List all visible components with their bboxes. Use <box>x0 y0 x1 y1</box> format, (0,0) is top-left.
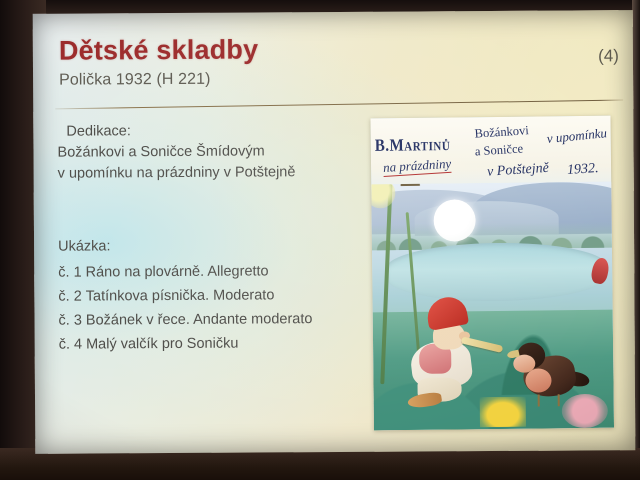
list-item: č. 1Ráno na plovárně. Allegretto <box>58 259 374 285</box>
gnome-figure <box>403 297 496 408</box>
list-item-number: č. 4 <box>59 337 82 353</box>
list-item: č. 2Tatínkova písnička. Moderato <box>58 283 374 309</box>
list-item-label: Malý valčík pro Soničku <box>86 336 238 353</box>
slide-subtitle: Polička 1932 (H 221) <box>59 68 613 89</box>
presentation-slide: Dětské skladby Polička 1932 (H 221) (4) … <box>33 10 636 454</box>
manuscript-place: v Potštejně <box>487 161 550 181</box>
manuscript-holidays: na prázdniny <box>383 156 452 177</box>
examples-label: Ukázka: <box>58 233 374 259</box>
manuscript-dedicatee-1: Božánkovi <box>474 123 529 141</box>
manuscript-inscription: B.Martinů Božánkovi a Soničce v upomínku… <box>370 116 611 191</box>
manuscript-in-memory: v upomínku <box>546 125 608 147</box>
manuscript-year: 1932. <box>567 161 599 179</box>
yellow-flower <box>479 397 525 428</box>
bird-legs <box>538 394 560 406</box>
dedication-line: Božánkovi a Soničce Šmídovým <box>57 141 373 164</box>
page-number: (4) <box>598 46 619 66</box>
header-divider <box>55 100 623 110</box>
manuscript-composer: B.Martinů <box>375 136 451 156</box>
manuscript-illustration: B.Martinů Božánkovi a Soničce v upomínku… <box>370 116 614 431</box>
gnome-shoe <box>407 391 443 409</box>
dedication-block: Dedikace: Božánkovi a Soničce Šmídovým v… <box>57 120 373 185</box>
list-item-label: Tatínkova písnička. Moderato <box>86 287 275 304</box>
page-title: Dětské skladby <box>59 32 613 66</box>
projected-slide-photo: Dětské skladby Polička 1932 (H 221) (4) … <box>0 0 640 480</box>
list-item: č. 3Božánek v řece. Andante moderato <box>58 307 374 333</box>
dedication-label: Dedikace: <box>66 120 373 143</box>
lake <box>386 242 607 303</box>
gnome-red-cap <box>424 294 469 331</box>
list-item: č. 4Malý valčík pro Soničku <box>59 331 375 357</box>
list-item-number: č. 1 <box>58 265 81 281</box>
list-item-label: Božánek v řece. Andante moderato <box>86 311 313 328</box>
watercolour-scene <box>371 182 614 431</box>
bird-breast <box>525 368 551 392</box>
slide-body-text: Dedikace: Božánkovi a Soničce Šmídovým v… <box>57 120 374 357</box>
list-item-label: Ráno na plovárně. Allegretto <box>86 263 269 280</box>
manuscript-dedicatee-2: a Soničce <box>474 141 523 159</box>
list-item-number: č. 3 <box>58 313 81 329</box>
slide-header: Dětské skladby Polička 1932 (H 221) <box>59 32 613 89</box>
dedication-line: v upomínku na prázdniny v Potštejně <box>58 162 374 185</box>
list-item-number: č. 2 <box>58 289 81 305</box>
examples-block: Ukázka: č. 1Ráno na plovárně. Allegretto… <box>58 233 375 357</box>
